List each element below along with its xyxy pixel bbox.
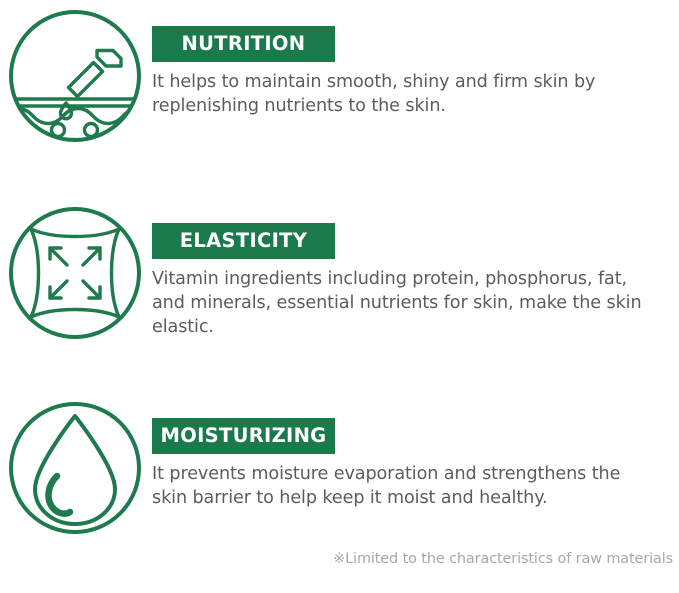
nutrition-description: It helps to maintain smooth, shiny and f…: [152, 71, 657, 119]
elasticity-title-badge: ELASTICITY: [152, 223, 335, 259]
moisturizing-description: It prevents moisture evaporation and str…: [152, 463, 657, 511]
benefit-row-nutrition: NUTRITION It helps to maintain smooth, s…: [0, 6, 679, 146]
moisturizing-body: MOISTURIZING It prevents moisture evapor…: [152, 398, 672, 511]
stretching-square-arrows-icon: [5, 203, 145, 343]
elasticity-description: Vitamin ingredients including protein, p…: [152, 268, 657, 340]
dropper-skin-layers-icon: [5, 6, 145, 146]
benefit-row-moisturizing: MOISTURIZING It prevents moisture evapor…: [0, 398, 679, 538]
elasticity-body: ELASTICITY Vitamin ingredients including…: [152, 203, 672, 340]
benefit-row-elasticity: ELASTICITY Vitamin ingredients including…: [0, 203, 679, 343]
water-droplet-icon: [5, 398, 145, 538]
nutrition-icon-wrap: [0, 6, 152, 146]
moisturizing-title-badge: MOISTURIZING: [152, 418, 335, 454]
benefits-infographic: NUTRITION It helps to maintain smooth, s…: [0, 0, 679, 593]
nutrition-title-badge: NUTRITION: [152, 26, 335, 62]
moisturizing-icon-wrap: [0, 398, 152, 538]
nutrition-body: NUTRITION It helps to maintain smooth, s…: [152, 6, 672, 119]
elasticity-icon-wrap: [0, 203, 152, 343]
footnote-raw-materials: ※Limited to the characteristics of raw m…: [333, 551, 673, 568]
